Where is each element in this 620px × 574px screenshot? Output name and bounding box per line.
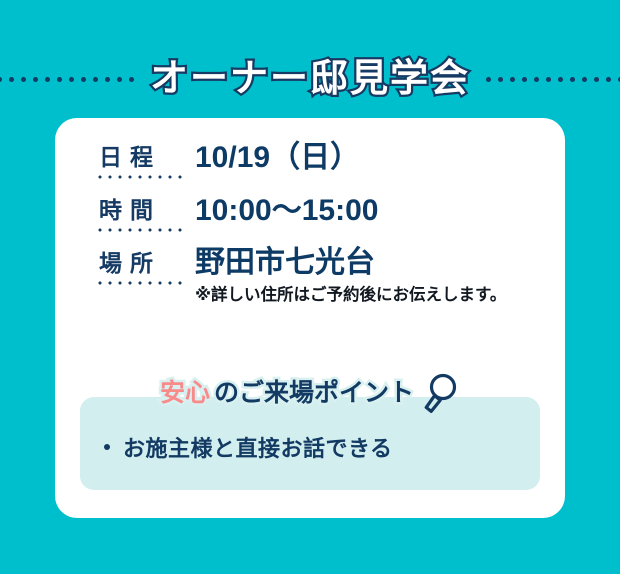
detail-label-date: 日程 (95, 142, 187, 179)
dotted-rule-right (486, 74, 620, 84)
points-heading: 安心 のご来場ポイント (80, 371, 540, 415)
reassurance-points-panel: 安心 のご来場ポイント お施主様と直接お話できる (80, 397, 540, 490)
detail-label-place: 場所 (95, 248, 187, 285)
points-heading-rest: のご来場ポイント (214, 381, 414, 406)
detail-value-place: 野田市七光台 (195, 246, 375, 279)
event-info-card: 日程 10/19（日） 時間 10:00〜15:00 場所 野田市七光台 ※詳し… (55, 118, 565, 518)
event-details-list: 日程 10/19（日） 時間 10:00〜15:00 場所 野田市七光台 ※詳し… (95, 142, 535, 321)
detail-value-place-wrap: 野田市七光台 ※詳しい住所はご予約後にお伝えします。 (187, 248, 535, 305)
dotted-rule-left (0, 74, 134, 84)
list-item: お施主様と直接お話できる (100, 431, 393, 463)
points-heading-accent: 安心 (160, 381, 210, 406)
page-title: オーナー邸見学会 (150, 60, 470, 98)
detail-value-time: 10:00〜15:00 (187, 195, 535, 227)
detail-row-date: 日程 10/19（日） (95, 142, 535, 179)
title-band: オーナー邸見学会 (0, 48, 620, 110)
detail-value-date: 10/19（日） (187, 142, 535, 174)
magnifier-icon (420, 371, 460, 415)
point-item-label: お施主様と直接お話できる (123, 431, 393, 463)
bullet-icon (104, 444, 110, 450)
detail-row-place: 場所 野田市七光台 ※詳しい住所はご予約後にお伝えします。 (95, 248, 535, 305)
detail-label-time: 時間 (95, 195, 187, 232)
detail-place-note: ※詳しい住所はご予約後にお伝えします。 (195, 286, 535, 306)
detail-row-time: 時間 10:00〜15:00 (95, 195, 535, 232)
